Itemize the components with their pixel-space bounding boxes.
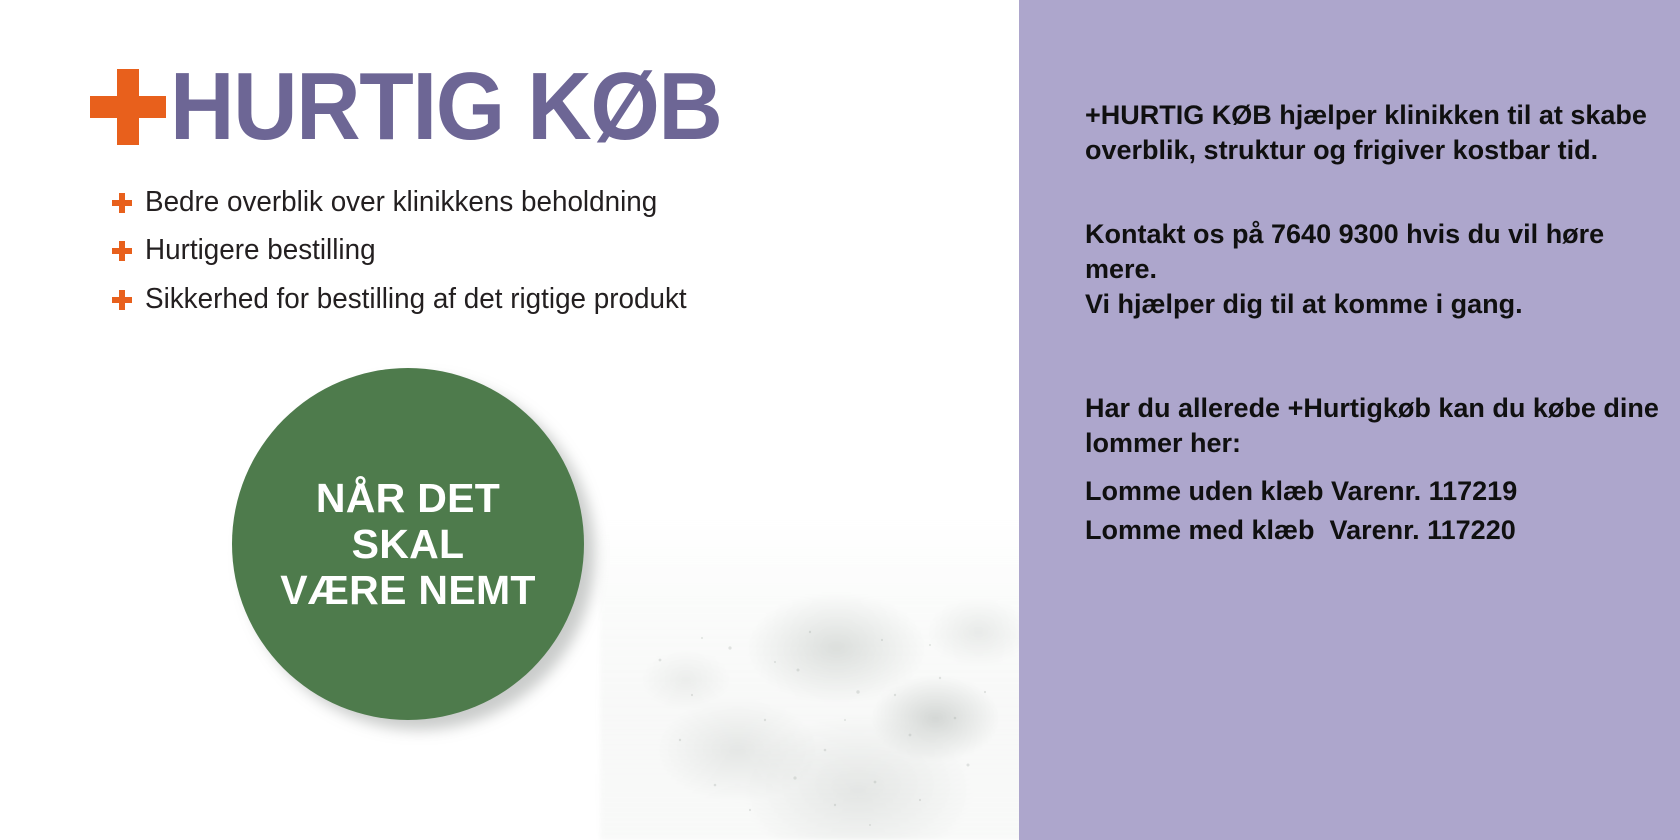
panel-intro-paragraph: +HURTIG KØB hjælper klinikken til at ska… [1085,98,1665,169]
panel-purchase-paragraph: Har du allerede +Hurtigkøb kan du købe d… [1085,391,1665,462]
product-line-no-adhesive: Lomme uden klæb Varenr. 117219 [1085,472,1665,512]
panel-intro-lead: +HURTIG KØB [1085,100,1272,130]
plus-icon [112,290,132,310]
panel-contact-line-2: Vi hjælper dig til at komme i gang. [1085,287,1665,322]
list-item-label: Bedre overblik over klinikkens beholdnin… [145,186,657,219]
left-content-column: HURTIG KØB Bedre overblik over klinikken… [0,0,1019,840]
info-panel: +HURTIG KØB hjælper klinikken til at ska… [1019,0,1680,840]
feature-bullet-list: Bedre overblik over klinikkens beholdnin… [112,186,932,331]
product-line-with-adhesive: Lomme med klæb Varenr. 117220 [1085,511,1665,551]
panel-contact-line-1: Kontakt os på 7640 9300 hvis du vil høre… [1085,217,1665,288]
info-panel-body: +HURTIG KØB hjælper klinikken til at ska… [1085,98,1665,551]
list-item-label: Sikkerhed for bestilling af det rigtige … [145,283,687,316]
status-badge-label: NÅR DET SKAL VÆRE NEMT [280,475,536,614]
plus-icon [112,241,132,261]
list-item: Bedre overblik over klinikkens beholdnin… [112,186,932,219]
list-item-label: Hurtigere bestilling [145,234,376,267]
status-badge: NÅR DET SKAL VÆRE NEMT [232,368,584,720]
list-item: Hurtigere bestilling [112,234,932,267]
slide-canvas: HURTIG KØB Bedre overblik over klinikken… [0,0,1680,840]
panel-purchase-bold: +Hurtigkøb [1288,393,1431,423]
page-title: HURTIG KØB [90,52,763,162]
panel-purchase-lead: Har du allerede [1085,393,1288,423]
plus-icon [90,69,166,145]
plus-icon [112,193,132,213]
list-item: Sikkerhed for bestilling af det rigtige … [112,283,932,316]
page-title-text: HURTIG KØB [170,59,721,155]
